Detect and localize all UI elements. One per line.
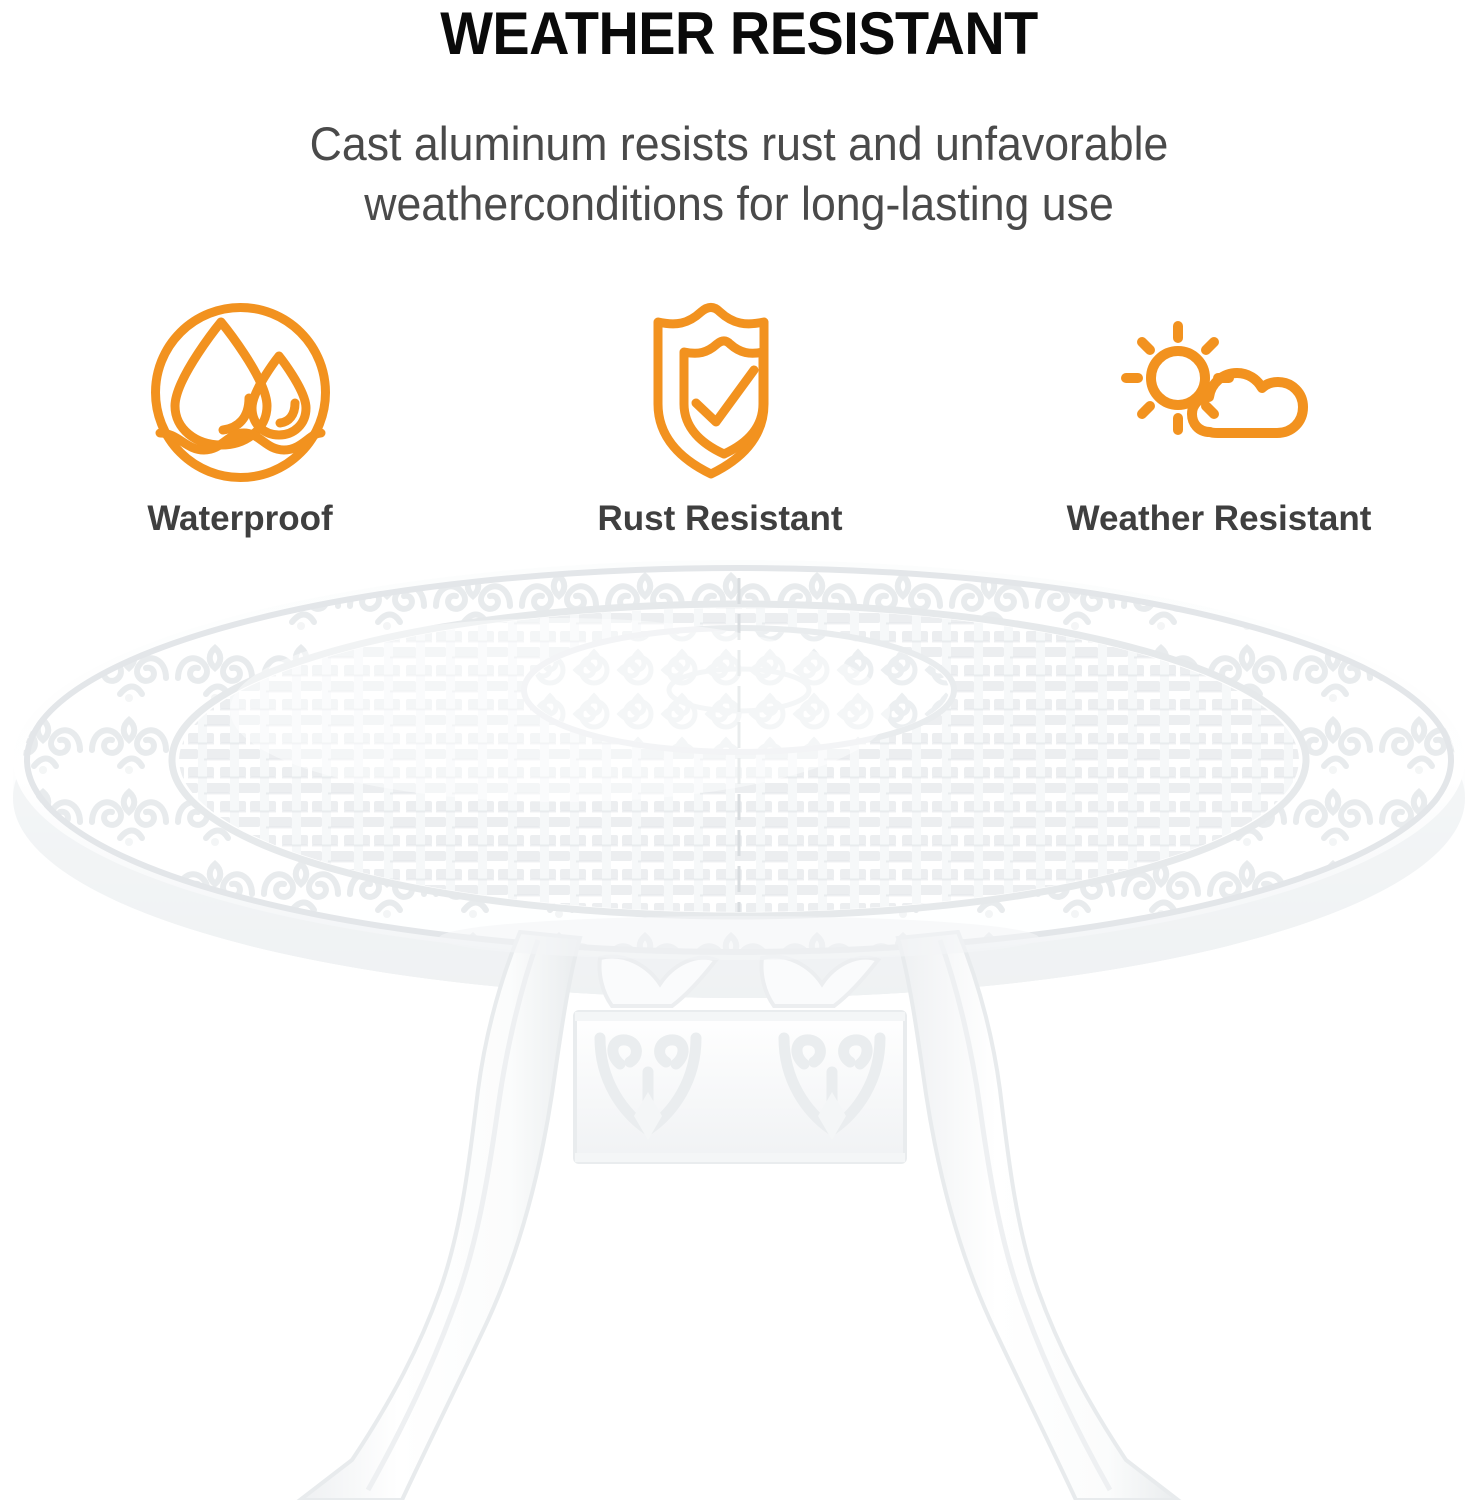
page-subtitle: Cast aluminum resists rust and unfavorab… [37,114,1441,234]
product-feature-infographic: WEATHER RESISTANT Cast aluminum resists … [0,0,1478,1500]
subtitle-line-2: weatherconditions for long-lasting use [37,174,1441,234]
feature-rust-resistant: Rust Resistant [480,300,960,539]
page-title: WEATHER RESISTANT [52,2,1427,66]
feature-label-rust-resistant: Rust Resistant [597,499,842,539]
shield-check-icon [628,300,813,485]
product-photo [0,560,1478,1500]
feature-label-weather-resistant: Weather Resistant [1067,499,1372,539]
feature-waterproof: Waterproof [0,300,480,539]
waterproof-droplets-icon [148,300,333,485]
feature-label-waterproof: Waterproof [147,499,332,539]
subtitle-line-1: Cast aluminum resists rust and unfavorab… [37,114,1441,174]
feature-badge-row: Waterproof Rust Resistant [0,300,1478,550]
feature-weather-resistant: Weather Resistant [960,300,1478,539]
table-leg-right [898,932,1178,1500]
table-leg-left [300,932,580,1500]
sun-cloud-icon [1114,300,1324,485]
